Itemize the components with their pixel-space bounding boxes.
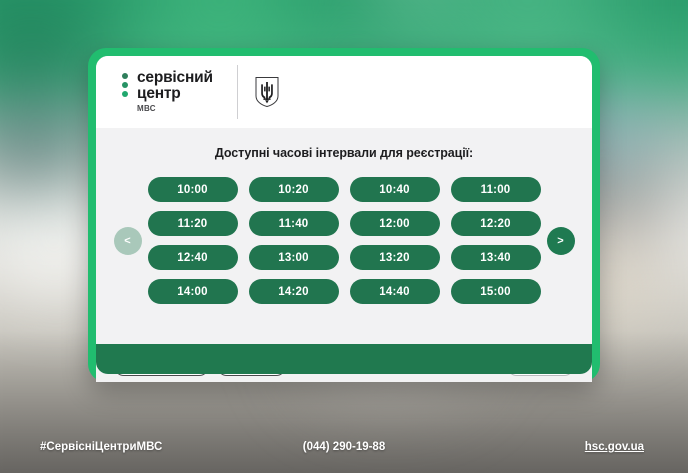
brand-line-1: сервісний	[137, 70, 213, 86]
header-divider	[237, 65, 238, 119]
time-slot-button[interactable]: 15:00	[451, 279, 541, 304]
time-slot-button[interactable]: 10:00	[148, 177, 238, 202]
time-slot-button[interactable]: 14:00	[148, 279, 238, 304]
time-slot-button[interactable]: 10:40	[350, 177, 440, 202]
time-slot-grid: 10:00 10:20 10:40 11:00 11:20 11:40 12:0…	[148, 177, 541, 304]
footer-website[interactable]: hsc.gov.ua	[585, 441, 644, 453]
brand-dots-icon	[122, 73, 128, 111]
time-slot-button[interactable]: 11:40	[249, 211, 339, 236]
kiosk-screen: сервісний центр МВС	[96, 56, 592, 382]
time-slot-button[interactable]: 13:40	[451, 245, 541, 270]
kiosk-bottom-bar	[96, 344, 592, 374]
slots-section: < 10:00 10:20 10:40 11:00 11:20 11:40 12…	[96, 177, 592, 304]
page-footer: #СервісніЦентриМВС (044) 290-19-88 hsc.g…	[0, 421, 688, 473]
card-header: сервісний центр МВС	[96, 56, 592, 128]
footer-phone: (044) 290-19-88	[303, 441, 385, 453]
time-slot-button[interactable]: 11:20	[148, 211, 238, 236]
brand-line-2: центр	[137, 86, 213, 102]
footer-hashtag: #СервісніЦентриМВС	[40, 441, 162, 453]
time-slot-button[interactable]: 14:40	[350, 279, 440, 304]
page-title: Доступні часові інтервали для реєстрації…	[96, 146, 592, 160]
time-slot-button[interactable]: 14:20	[249, 279, 339, 304]
brand-line-3: МВС	[137, 105, 213, 113]
time-slot-button[interactable]: 12:40	[148, 245, 238, 270]
time-slot-button[interactable]: 13:00	[249, 245, 339, 270]
time-slot-button[interactable]: 12:00	[350, 211, 440, 236]
time-slot-button[interactable]: 11:00	[451, 177, 541, 202]
time-slot-button[interactable]: 10:20	[249, 177, 339, 202]
kiosk-card: сервісний центр МВС	[88, 48, 600, 382]
time-slot-button[interactable]: 13:20	[350, 245, 440, 270]
time-slot-button[interactable]: 12:20	[451, 211, 541, 236]
chevron-right-icon[interactable]: >	[547, 227, 575, 255]
chevron-left-icon[interactable]: <	[114, 227, 142, 255]
brand-logo: сервісний центр МВС	[122, 70, 213, 114]
ukraine-coat-of-arms-icon	[254, 76, 280, 108]
brand-wordmark: сервісний центр МВС	[137, 70, 213, 114]
